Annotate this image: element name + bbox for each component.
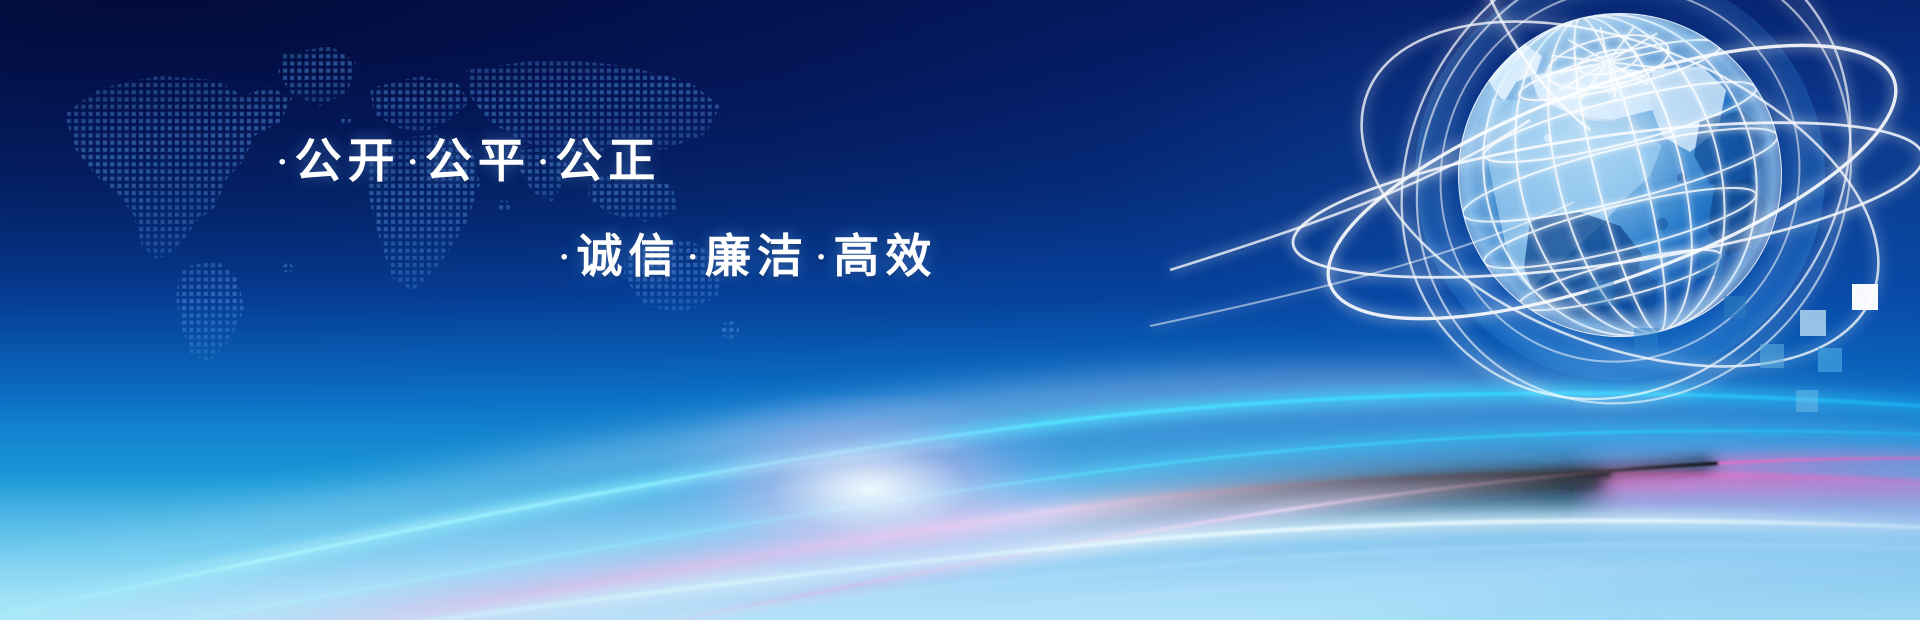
slogan-block: ·公开·公平·公正 ·诚信·廉洁·高效 [270,138,1090,279]
pixel-squares-decoration [1700,250,1920,450]
light-hotspot [660,395,1080,585]
slogan-word-chengxin: 诚信 [576,229,680,283]
promotional-banner: ·公开·公平·公正 ·诚信·廉洁·高效 [0,0,1920,620]
slogan-line-2: ·诚信·廉洁·高效 [270,233,1090,279]
slogan-word-gongzheng: 公正 [555,134,661,189]
slogan-word-lianjie: 廉洁 [705,229,809,283]
bullet-separator: · [552,240,576,275]
bullet-separator: · [531,145,555,180]
bullet-separator: · [680,240,704,275]
slogan-word-gongkai: 公开 [294,134,400,189]
slogan-line-1: ·公开·公平·公正 [270,138,1090,185]
slogan-word-gongping: 公平 [425,134,531,189]
background-vignette-top-left [0,0,1920,620]
background-glow-right [0,0,1920,620]
bullet-separator: · [809,240,833,275]
bullet-separator: · [270,145,294,180]
globe-graphic [1290,0,1920,440]
slogan-word-gaoxiao: 高效 [833,229,937,283]
bullet-separator: · [400,145,424,180]
bottom-fade-overlay [0,470,1920,620]
orbit-rings-icon [1284,0,1920,489]
light-wave-graphic [0,250,1920,620]
